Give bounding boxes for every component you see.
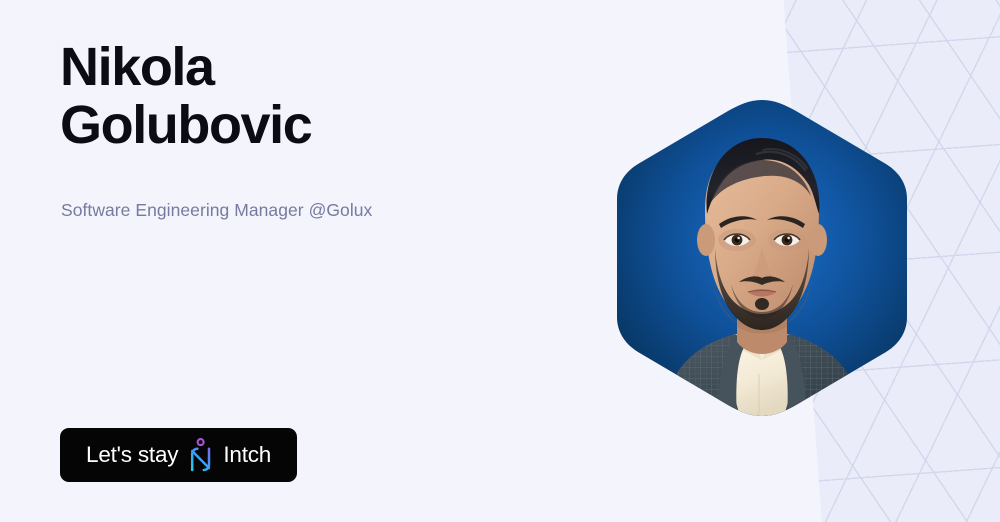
profile-headline: Software Engineering Manager @Golux xyxy=(61,198,372,222)
intch-logo-icon xyxy=(188,437,214,473)
cta-label-before-logo: Let's stay xyxy=(86,442,178,468)
page-title: Nikola Golubovic xyxy=(60,38,311,154)
profile-card: Nikola Golubovic Software Engineering Ma… xyxy=(0,0,1000,522)
lets-stay-intch-button[interactable]: Let's stay Intch xyxy=(60,428,297,482)
cta-label-after-logo: Intch xyxy=(223,442,271,468)
avatar-hexagon xyxy=(607,98,917,418)
avatar xyxy=(607,98,917,418)
